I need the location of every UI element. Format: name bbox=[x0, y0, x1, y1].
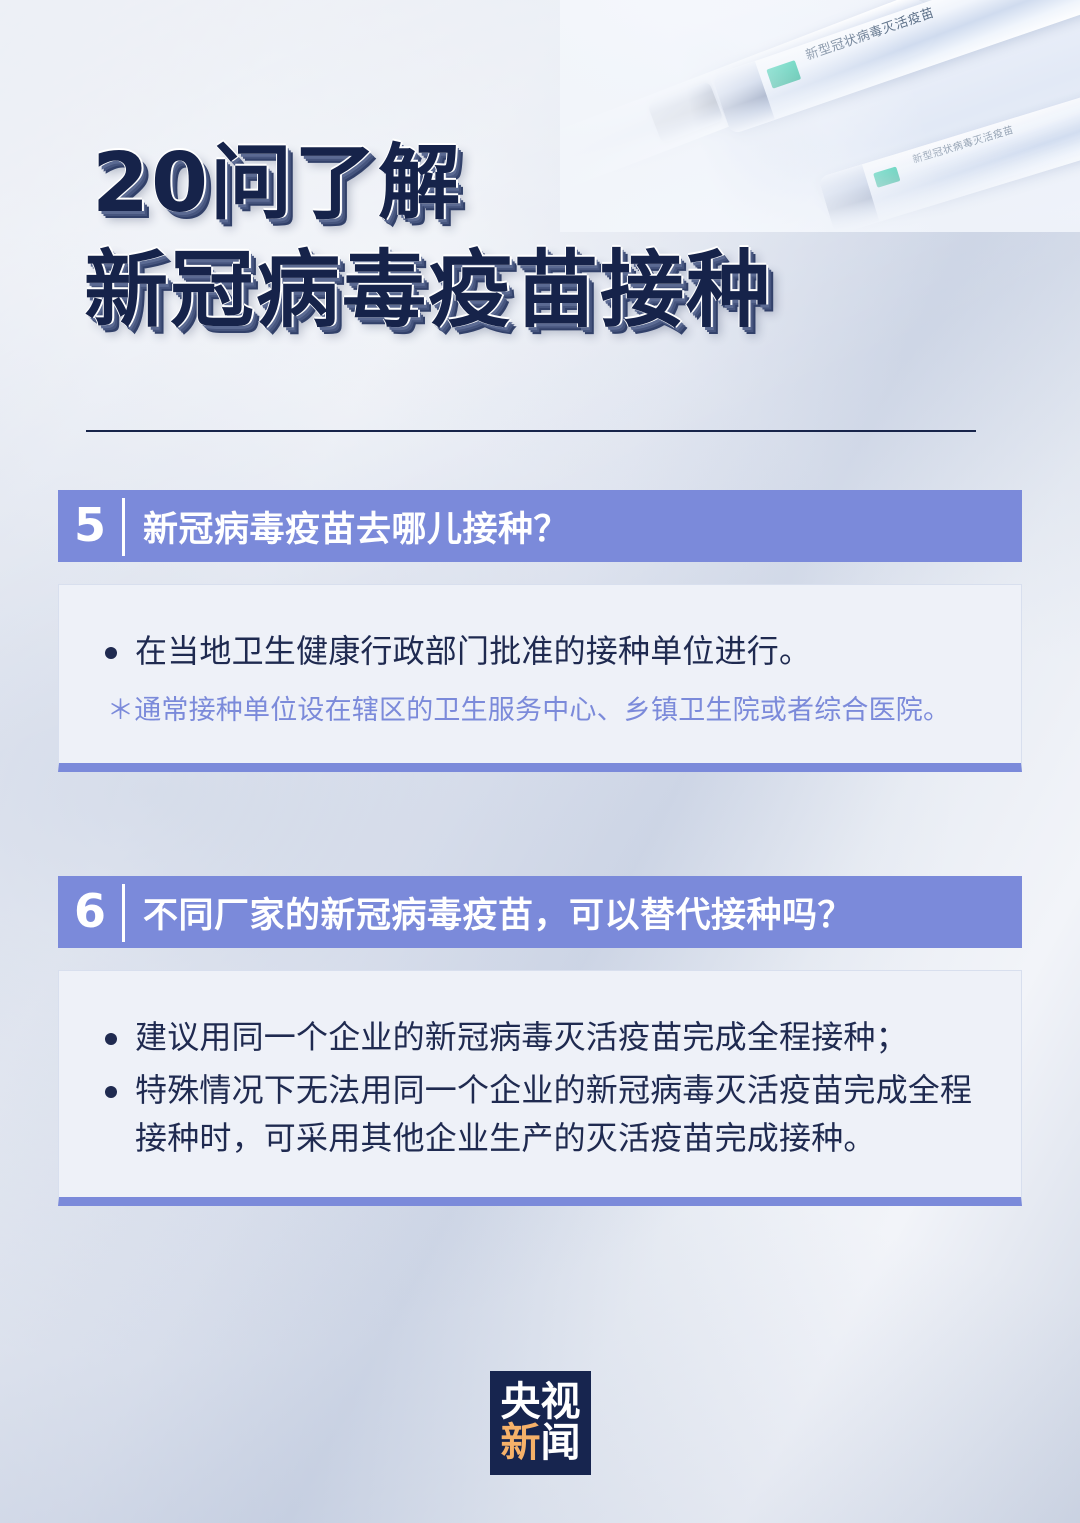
question-block-5: 5 新冠病毒疫苗去哪儿接种？ 在当地卫生健康行政部门批准的接种单位进行。 ＊通常… bbox=[58, 490, 1022, 772]
question-header-6: 6 不同厂家的新冠病毒疫苗，可以替代接种吗？ bbox=[58, 876, 1022, 948]
page-title: 20问了解 新冠病毒疫苗接种 bbox=[84, 142, 1004, 333]
logo-char-xin: 新 bbox=[501, 1420, 541, 1466]
vial-green-marker bbox=[766, 60, 801, 89]
answer-body-5: 在当地卫生健康行政部门批准的接种单位进行。 ＊通常接种单位设在辖区的卫生服务中心… bbox=[59, 585, 1021, 763]
logo-text-top: 央视 bbox=[501, 1382, 581, 1423]
poster-root: 新型冠状病毒灭活疫苗 新型冠状病毒灭活疫苗 20问了解 新冠病毒疫苗接种 5 新… bbox=[0, 0, 1080, 1523]
answer-card-6: 建议用同一个企业的新冠病毒灭活疫苗完成全程接种； 特殊情况下无法用同一个企业的新… bbox=[58, 970, 1022, 1206]
question-header-5: 5 新冠病毒疫苗去哪儿接种？ bbox=[58, 490, 1022, 562]
question-title-6: 不同厂家的新冠病毒疫苗，可以替代接种吗？ bbox=[125, 876, 1022, 948]
title-divider bbox=[86, 430, 976, 432]
title-line-2: 新冠病毒疫苗接种 bbox=[84, 248, 1004, 334]
logo-char-wen: 闻 bbox=[541, 1420, 581, 1466]
logo-text-bottom: 新闻 bbox=[501, 1423, 581, 1464]
title-line-1: 20问了解 bbox=[92, 142, 1004, 226]
answer-body-6: 建议用同一个企业的新冠病毒灭活疫苗完成全程接种； 特殊情况下无法用同一个企业的新… bbox=[59, 971, 1021, 1197]
answer-bullet-list-5: 在当地卫生健康行政部门批准的接种单位进行。 bbox=[101, 627, 981, 676]
question-block-6: 6 不同厂家的新冠病毒疫苗，可以替代接种吗？ 建议用同一个企业的新冠病毒灭活疫苗… bbox=[58, 876, 1022, 1206]
list-item: 建议用同一个企业的新冠病毒灭活疫苗完成全程接种； bbox=[101, 1013, 981, 1062]
list-item: 特殊情况下无法用同一个企业的新冠病毒灭活疫苗完成全程接种时，可采用其他企业生产的… bbox=[101, 1066, 981, 1163]
answer-note-5: ＊通常接种单位设在辖区的卫生服务中心、乡镇卫生院或者综合医院。 bbox=[101, 692, 981, 730]
question-number-5: 5 bbox=[58, 490, 122, 562]
cctv-news-logo: 央视 新闻 bbox=[490, 1371, 591, 1475]
list-item: 在当地卫生健康行政部门批准的接种单位进行。 bbox=[101, 627, 981, 676]
question-title-5: 新冠病毒疫苗去哪儿接种？ bbox=[125, 490, 1022, 562]
question-number-6: 6 bbox=[58, 876, 122, 948]
answer-card-5: 在当地卫生健康行政部门批准的接种单位进行。 ＊通常接种单位设在辖区的卫生服务中心… bbox=[58, 584, 1022, 772]
answer-bullet-list-6: 建议用同一个企业的新冠病毒灭活疫苗完成全程接种； 特殊情况下无法用同一个企业的新… bbox=[101, 1013, 981, 1163]
